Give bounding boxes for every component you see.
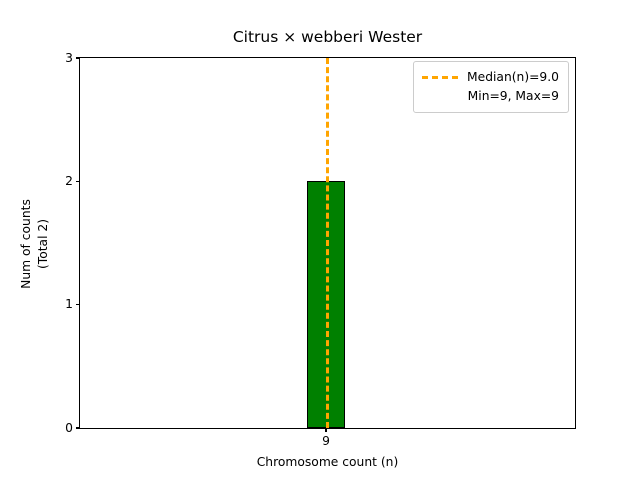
y-tick-mark [76, 57, 80, 58]
y-axis-label: Num of counts (Total 2) [18, 58, 52, 430]
plot-area: 3 2 1 0 9 Median(n)=9.0 [79, 57, 576, 429]
y-tick-label: 0 [65, 420, 73, 437]
legend-entry-median: Median(n)=9.0 [422, 68, 559, 87]
dashed-line-icon [422, 76, 458, 79]
figure-canvas: Citrus × webberi Wester 3 2 1 0 9 [0, 0, 640, 480]
median-line [326, 58, 329, 428]
blank-handle-icon [422, 95, 458, 98]
y-tick-mark [76, 304, 80, 305]
legend-label: Min=9, Max=9 [467, 87, 559, 106]
y-tick-label: 3 [65, 50, 73, 67]
y-tick-mark [76, 181, 80, 182]
chart-title: Citrus × webberi Wester [79, 28, 576, 46]
y-tick-label: 2 [65, 173, 73, 190]
x-axis-label: Chromosome count (n) [79, 455, 576, 470]
y-axis-label-line-1: Num of counts [18, 58, 35, 430]
legend[interactable]: Median(n)=9.0 Min=9, Max=9 [413, 61, 569, 113]
y-tick-label: 1 [65, 296, 73, 313]
x-tick-label: 9 [286, 434, 366, 449]
legend-entry-minmax: Min=9, Max=9 [422, 87, 559, 106]
y-tick-mark [76, 427, 80, 428]
y-axis-label-line-2: (Total 2) [35, 58, 52, 430]
x-tick-mark [325, 428, 326, 432]
legend-label: Median(n)=9.0 [467, 68, 559, 87]
